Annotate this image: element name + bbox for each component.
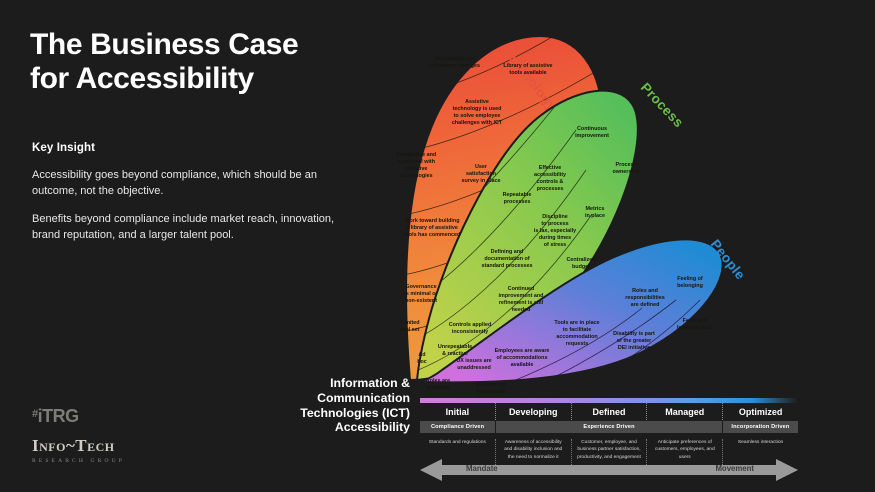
stage-optimized[interactable]: Optimized [723, 403, 798, 420]
stage-developing[interactable]: Developing [496, 403, 572, 420]
svg-text:Feeling ofbelonging: Feeling ofbelonging [677, 276, 703, 289]
page-title: The Business Case for Accessibility [30, 28, 360, 96]
svg-text:Library of assistivetools avai: Library of assistivetools available [503, 63, 552, 76]
infotech-logo: Info~Tech RESEARCH GROUP [32, 436, 125, 464]
infographic-page: The Business Case for Accessibility Key … [0, 0, 875, 492]
key-insight-paragraph-2: Benefits beyond compliance include marke… [32, 212, 362, 244]
maturity-leaf-diagram: Technology Process [380, 8, 800, 408]
mandate-movement-arrow: Mandate Movement [420, 458, 798, 482]
svg-text:Roles areunknown: Roles areunknown [426, 378, 450, 391]
driver-experience: Experience Driven [496, 421, 722, 433]
svg-text:Governanceis minimal ornon-exi: Governanceis minimal ornon-existent [404, 284, 438, 304]
key-insight-heading: Key Insight [32, 142, 95, 154]
itrg-wordmark: iTRG [38, 406, 79, 426]
svg-text:Reliance onindividuals: Reliance onindividuals [476, 382, 506, 395]
svg-text:Work toward buildinga library: Work toward buildinga library of assisti… [404, 218, 461, 238]
svg-text:Disability is partof the great: Disability is partof the greaterDEI init… [613, 331, 655, 351]
driver-compliance: Compliance Driven [420, 421, 495, 433]
page-title-line1: The Business Case [30, 28, 360, 62]
svg-text:Processownership: Processownership [613, 162, 641, 175]
svg-text:Adhoc: Adhoc [417, 352, 427, 365]
svg-text:Repeatableprocesses: Repeatableprocesses [503, 192, 532, 205]
svg-text:UX issues areunaddressed: UX issues areunaddressed [456, 358, 491, 371]
svg-text:Unrepeatable& reactive: Unrepeatable& reactive [438, 344, 472, 357]
arrow-label-movement: Movement [715, 464, 754, 473]
svg-text:Continuousimprovement: Continuousimprovement [575, 126, 609, 139]
svg-text:Controls appliedinconsistently: Controls appliedinconsistently [449, 322, 492, 335]
svg-text:Feedbackloops in place: Feedbackloops in place [677, 318, 713, 331]
driver-incorporation: Incorporation Driven [723, 421, 798, 433]
svg-text:Incremental andinnovative chan: Incremental andinnovative changes [430, 56, 480, 69]
svg-text:Effectiveaccessibilitycontrols: Effectiveaccessibilitycontrols &processe… [534, 165, 566, 192]
ict-axis-label-line2: Technologies (ICT) Accessibility [238, 406, 410, 436]
key-insight-body: Accessibility goes beyond compliance, wh… [32, 168, 362, 256]
stage-managed[interactable]: Managed [647, 403, 723, 420]
itrg-logo: #iTRG [32, 406, 79, 427]
page-title-line2: for Accessibility [30, 62, 360, 96]
svg-text:Metricsin place: Metricsin place [585, 206, 605, 219]
svg-text:Limitedtool set: Limitedtool set [400, 320, 419, 333]
key-insight-paragraph-1: Accessibility goes beyond compliance, wh… [32, 168, 362, 200]
infotech-tagline: RESEARCH GROUP [32, 458, 125, 464]
infotech-wordmark: Info~Tech [32, 436, 125, 456]
stage-initial[interactable]: Initial [420, 403, 496, 420]
maturity-driver-row: Compliance Driven Experience Driven Inco… [420, 421, 798, 433]
stage-defined[interactable]: Defined [572, 403, 648, 420]
arrow-label-mandate: Mandate [466, 464, 498, 473]
maturity-stage-header-row: Initial Developing Defined Managed Optim… [420, 403, 798, 420]
category-label-process: Process [638, 80, 687, 131]
